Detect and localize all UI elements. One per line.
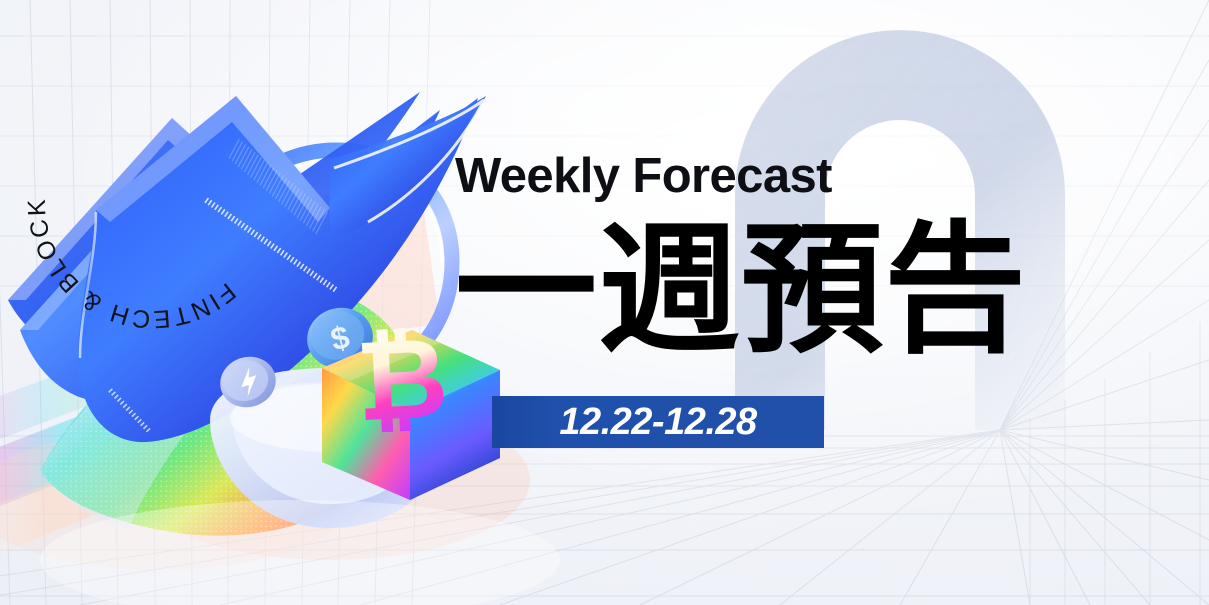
kicker-weekly-forecast: Weekly Forecast: [455, 150, 1075, 203]
fintech-blockchain-circular-text: FINTECH & BLOCKCHAIN: [18, 68, 288, 338]
weekly-forecast-banner: $ ₿ FINTECH & BLOCKCHAIN W: [0, 0, 1209, 605]
date-range-label: 12.22-12.28: [559, 403, 756, 441]
date-range-badge: 12.22-12.28: [492, 396, 824, 448]
bitcoin-symbol: ₿: [353, 313, 451, 448]
page-title-chinese: 一週預告: [455, 219, 1075, 364]
svg-text:FINTECH & BLOCKCHAIN: FINTECH & BLOCKCHAIN: [18, 68, 241, 333]
svg-text:₿: ₿: [353, 313, 451, 448]
circular-text-label: FINTECH & BLOCKCHAIN: [18, 68, 241, 333]
headline-block: Weekly Forecast 一週預告: [455, 150, 1075, 364]
